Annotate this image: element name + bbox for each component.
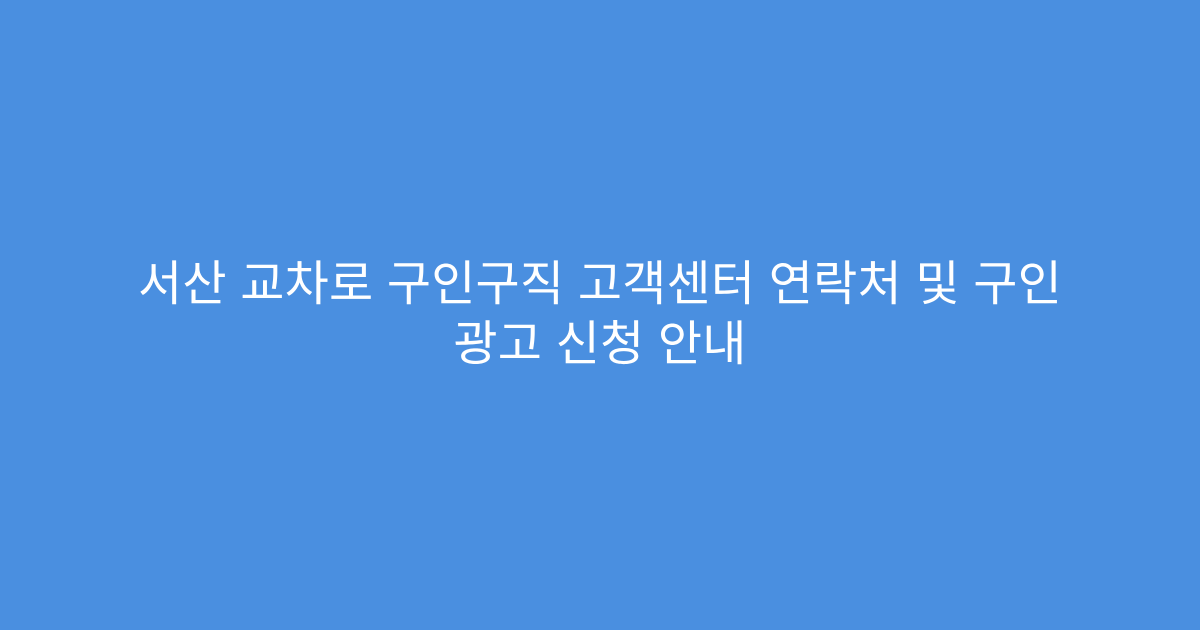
og-card-canvas: 서산 교차로 구인구직 고객센터 연락처 및 구인 광고 신청 안내 <box>0 0 1200 630</box>
title-block: 서산 교차로 구인구직 고객센터 연락처 및 구인 광고 신청 안내 <box>80 255 1120 375</box>
page-title: 서산 교차로 구인구직 고객센터 연락처 및 구인 광고 신청 안내 <box>90 255 1110 375</box>
